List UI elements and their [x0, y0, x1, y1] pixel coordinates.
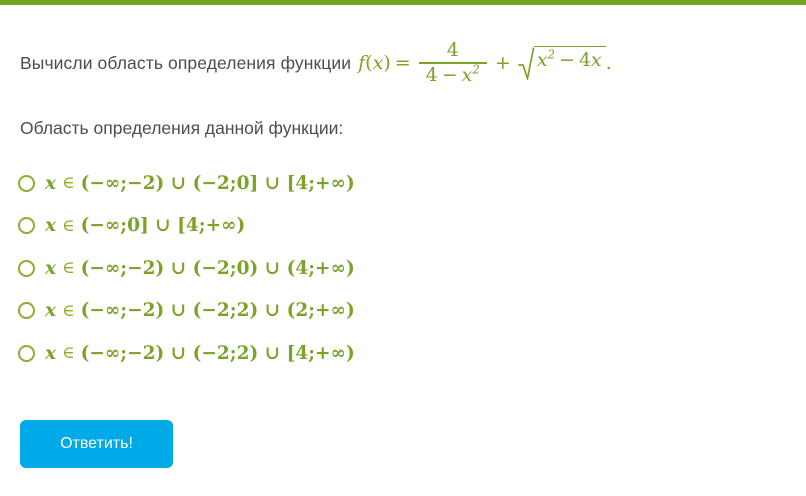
radical-sign-icon: [518, 46, 535, 80]
formula-square-root: x2−4x: [518, 46, 606, 80]
option-4-set: (−∞;−2) ∪ (−2;2) ∪ (2;+∞): [81, 300, 355, 321]
option-3-set: (−∞;−2) ∪ (−2;0) ∪ (4;+∞): [81, 258, 355, 279]
question-prompt: Вычисли область определения функции: [20, 53, 351, 74]
option-row-4[interactable]: x ∈ (−∞;−2) ∪ (−2;2) ∪ (2;+∞): [18, 290, 618, 333]
formula-f: f: [358, 52, 365, 74]
radicand-var2: x: [591, 49, 602, 71]
formula-expression: f(x) = 4 4−x2 + x2−4x .: [358, 41, 612, 85]
option-3-variable: x: [45, 258, 59, 279]
radicand-exponent: 2: [548, 48, 556, 62]
formula-period: .: [606, 52, 612, 74]
option-4-variable: x: [45, 300, 59, 321]
option-1-set: (−∞;−2) ∪ (−2;0] ∪ [4;+∞): [81, 173, 355, 194]
denominator-exponent: 2: [472, 62, 480, 76]
radio-button-4[interactable]: [18, 302, 35, 319]
radio-button-2[interactable]: [18, 217, 35, 234]
option-1-variable: x: [45, 173, 59, 194]
formula-plus: +: [495, 52, 511, 74]
option-5-element-of-icon: ∈: [59, 343, 81, 363]
option-label-4: x ∈ (−∞;−2) ∪ (−2;2) ∪ (2;+∞): [45, 300, 355, 321]
option-3-element-of-icon: ∈: [59, 258, 81, 278]
formula-lhs-var: x: [373, 52, 384, 74]
option-row-3[interactable]: x ∈ (−∞;−2) ∪ (−2;0) ∪ (4;+∞): [18, 247, 618, 290]
radicand: x2−4x: [534, 46, 606, 80]
option-5-set: (−∞;−2) ∪ (−2;2) ∪ [4;+∞): [81, 343, 355, 364]
answer-options-list: x ∈ (−∞;−2) ∪ (−2;0] ∪ [4;+∞) x ∈ (−∞;0]…: [18, 162, 618, 375]
formula-open-paren: (: [365, 52, 372, 74]
radio-button-5[interactable]: [18, 345, 35, 362]
option-label-2: x ∈ (−∞;0] ∪ [4;+∞): [45, 215, 245, 236]
option-row-1[interactable]: x ∈ (−∞;−2) ∪ (−2;0] ∪ [4;+∞): [18, 162, 618, 205]
option-label-1: x ∈ (−∞;−2) ∪ (−2;0] ∪ [4;+∞): [45, 173, 355, 194]
fraction-denominator: 4−x2: [419, 64, 487, 86]
option-5-variable: x: [45, 343, 59, 364]
fraction-numerator: 4: [440, 41, 466, 62]
option-2-element-of-icon: ∈: [59, 216, 81, 236]
question-row: Вычисли область определения функции f(x)…: [20, 41, 612, 85]
submit-answer-button[interactable]: Ответить!: [20, 420, 173, 468]
option-2-set: (−∞;0] ∪ [4;+∞): [81, 215, 246, 236]
option-row-5[interactable]: x ∈ (−∞;−2) ∪ (−2;2) ∪ [4;+∞): [18, 332, 618, 375]
option-label-5: x ∈ (−∞;−2) ∪ (−2;2) ∪ [4;+∞): [45, 343, 355, 364]
denominator-var: x: [462, 64, 473, 86]
radicand-coefficient: 4: [579, 49, 591, 71]
formula-close-paren: ): [383, 52, 390, 74]
radio-button-3[interactable]: [18, 260, 35, 277]
option-1-element-of-icon: ∈: [59, 173, 81, 193]
option-4-element-of-icon: ∈: [59, 301, 81, 321]
option-2-variable: x: [45, 215, 59, 236]
option-label-3: x ∈ (−∞;−2) ∪ (−2;0) ∪ (4;+∞): [45, 258, 355, 279]
option-row-2[interactable]: x ∈ (−∞;0] ∪ [4;+∞): [18, 205, 618, 248]
denominator-four: 4: [426, 64, 438, 86]
radicand-minus: −: [559, 49, 575, 71]
formula-equals: =: [395, 52, 411, 74]
answer-section-label: Область определения данной функции:: [20, 118, 343, 139]
radicand-var: x: [537, 49, 548, 71]
denominator-minus: −: [442, 64, 458, 86]
page-content: Вычисли область определения функции f(x)…: [0, 5, 806, 496]
formula-fraction: 4 4−x2: [419, 41, 487, 85]
radio-button-1[interactable]: [18, 175, 35, 192]
